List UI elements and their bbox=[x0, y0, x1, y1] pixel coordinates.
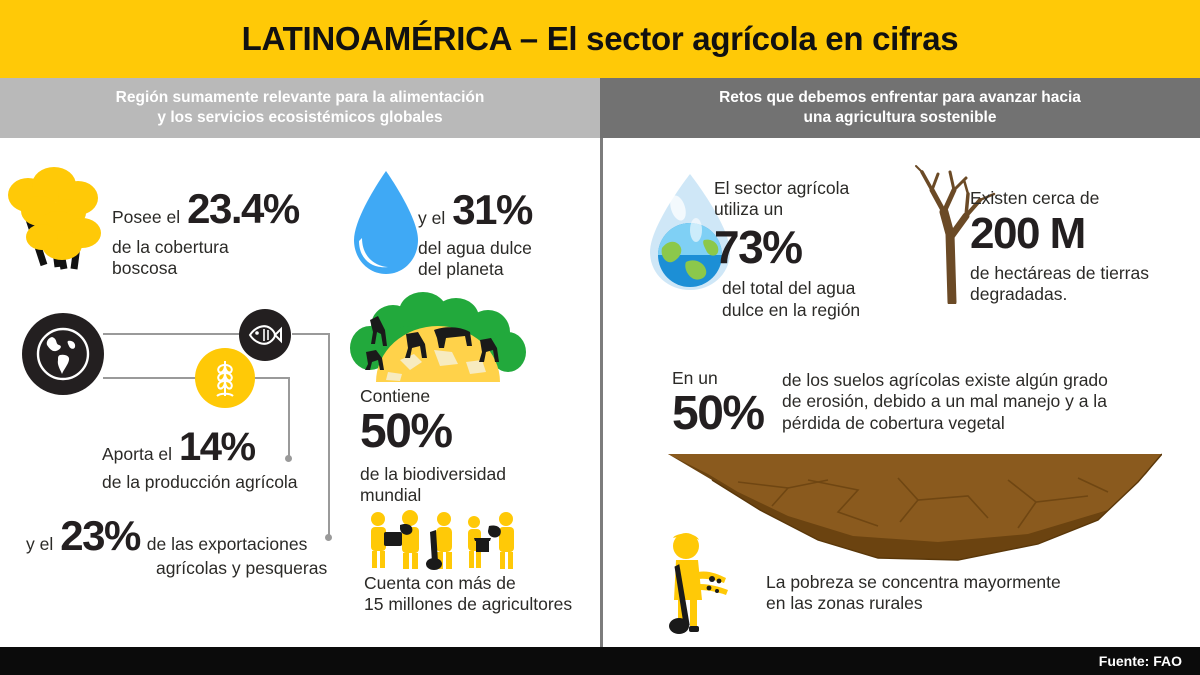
section-header-left-line1: Región sumamente relevante para la alime… bbox=[116, 88, 485, 108]
fact-erosion-pre: En un bbox=[672, 368, 764, 389]
footer-bar bbox=[0, 647, 1200, 675]
fact-biodiversity-value: 50% bbox=[360, 407, 506, 457]
fact-water-use-line4: dulce en la región bbox=[722, 300, 860, 321]
fact-water-use: El sector agrícola utiliza un 73% del to… bbox=[714, 178, 860, 321]
fact-erosion-text-block: de los suelos agrícolas existe algún gra… bbox=[782, 370, 1108, 434]
fact-biodiversity-line3: mundial bbox=[360, 485, 506, 506]
connector-right-vertical bbox=[328, 333, 330, 538]
fact-production: Aporta el 14% de la producción agrícola bbox=[102, 425, 298, 493]
wheat-icon bbox=[195, 348, 255, 408]
fact-water-line2: del agua dulce bbox=[418, 238, 532, 259]
soil-chunk-icon bbox=[668, 448, 1162, 568]
footer-source: Fuente: FAO bbox=[1099, 647, 1182, 675]
water-drop-icon bbox=[348, 168, 424, 278]
fact-water-use-line1: El sector agrícola bbox=[714, 178, 860, 199]
fact-farmers-line1: Cuenta con más de bbox=[364, 573, 572, 594]
fact-forest-pre: Posee el bbox=[112, 207, 180, 228]
infographic-canvas: LATINOAMÉRICA – El sector agrícola en ci… bbox=[0, 0, 1200, 675]
fact-degraded-value: 200 M bbox=[970, 209, 1149, 258]
fact-degraded-line2: de hectáreas de tierras bbox=[970, 263, 1149, 284]
fact-biodiversity-pre: Contiene bbox=[360, 386, 506, 407]
farmer-shovel-icon bbox=[660, 530, 740, 635]
fact-water: y el 31% del agua dulce del planeta bbox=[418, 186, 532, 281]
connector-wheat-right bbox=[252, 377, 290, 379]
farmers-icon bbox=[364, 510, 534, 570]
fact-production-pre: Aporta el bbox=[102, 444, 172, 465]
fact-water-use-value: 73% bbox=[714, 223, 860, 273]
fact-water-use-line3: del total del agua bbox=[722, 278, 860, 299]
fact-exports-line3: agrícolas y pesqueras bbox=[156, 558, 327, 579]
fact-exports-line2: de las exportaciones bbox=[147, 534, 308, 555]
fact-erosion-value: 50% bbox=[672, 389, 764, 439]
fact-forest-line2: de la cobertura bbox=[112, 237, 299, 258]
fact-erosion-line1: de los suelos agrícolas existe algún gra… bbox=[782, 370, 1108, 391]
connector-globe-fish bbox=[103, 333, 243, 335]
fact-exports-pre: y el bbox=[26, 534, 53, 555]
fact-exports: y el 23% de las exportaciones agrícolas … bbox=[26, 512, 327, 579]
fact-degraded-line3: degradadas. bbox=[970, 284, 1149, 305]
fact-erosion-value-block: En un 50% bbox=[672, 368, 764, 440]
fact-forest-line3: boscosa bbox=[112, 258, 299, 279]
fact-exports-value: 23% bbox=[60, 512, 140, 560]
fact-poverty: La pobreza se concentra mayormente en la… bbox=[766, 572, 1061, 615]
fact-water-use-line2: utiliza un bbox=[714, 199, 860, 220]
fact-degraded-line1: Existen cerca de bbox=[970, 188, 1149, 209]
section-header-left: Región sumamente relevante para la alime… bbox=[0, 78, 600, 138]
fact-erosion-line2: de erosión, debido a un mal manejo y a l… bbox=[782, 391, 1108, 412]
fact-poverty-line2: en las zonas rurales bbox=[766, 593, 1061, 614]
fact-degraded: Existen cerca de 200 M de hectáreas de t… bbox=[970, 188, 1149, 305]
globe-icon bbox=[22, 313, 104, 395]
fish-icon bbox=[239, 309, 291, 361]
fact-poverty-line1: La pobreza se concentra mayormente bbox=[766, 572, 1061, 593]
page-title: LATINOAMÉRICA – El sector agrícola en ci… bbox=[0, 0, 1200, 78]
section-header-left-line2: y los servicios ecosistémicos globales bbox=[116, 108, 485, 128]
column-divider bbox=[600, 138, 603, 647]
fact-water-pre: y el bbox=[418, 208, 445, 229]
fact-forest-value: 23.4% bbox=[187, 185, 299, 233]
trees-icon bbox=[6, 165, 116, 280]
fact-erosion-line3: pérdida de cobertura vegetal bbox=[782, 413, 1108, 434]
biodiversity-icon bbox=[348, 290, 528, 385]
fact-water-line3: del planeta bbox=[418, 259, 532, 280]
section-header-right-line1: Retos que debemos enfrentar para avanzar… bbox=[719, 88, 1081, 108]
connector-fish-right bbox=[292, 333, 330, 335]
fact-farmers-line2: 15 millones de agricultores bbox=[364, 594, 572, 615]
fact-forest: Posee el 23.4% de la cobertura boscosa bbox=[112, 185, 299, 280]
fact-production-value: 14% bbox=[179, 425, 255, 470]
fact-production-line2: de la producción agrícola bbox=[102, 472, 298, 493]
fact-water-value: 31% bbox=[452, 186, 532, 234]
fact-farmers: Cuenta con más de 15 millones de agricul… bbox=[364, 573, 572, 616]
section-header-right: Retos que debemos enfrentar para avanzar… bbox=[600, 78, 1200, 138]
fact-biodiversity-line2: de la biodiversidad bbox=[360, 464, 506, 485]
fact-biodiversity: Contiene 50% de la biodiversidad mundial bbox=[360, 386, 506, 506]
section-header-right-line2: una agricultura sostenible bbox=[719, 108, 1081, 128]
